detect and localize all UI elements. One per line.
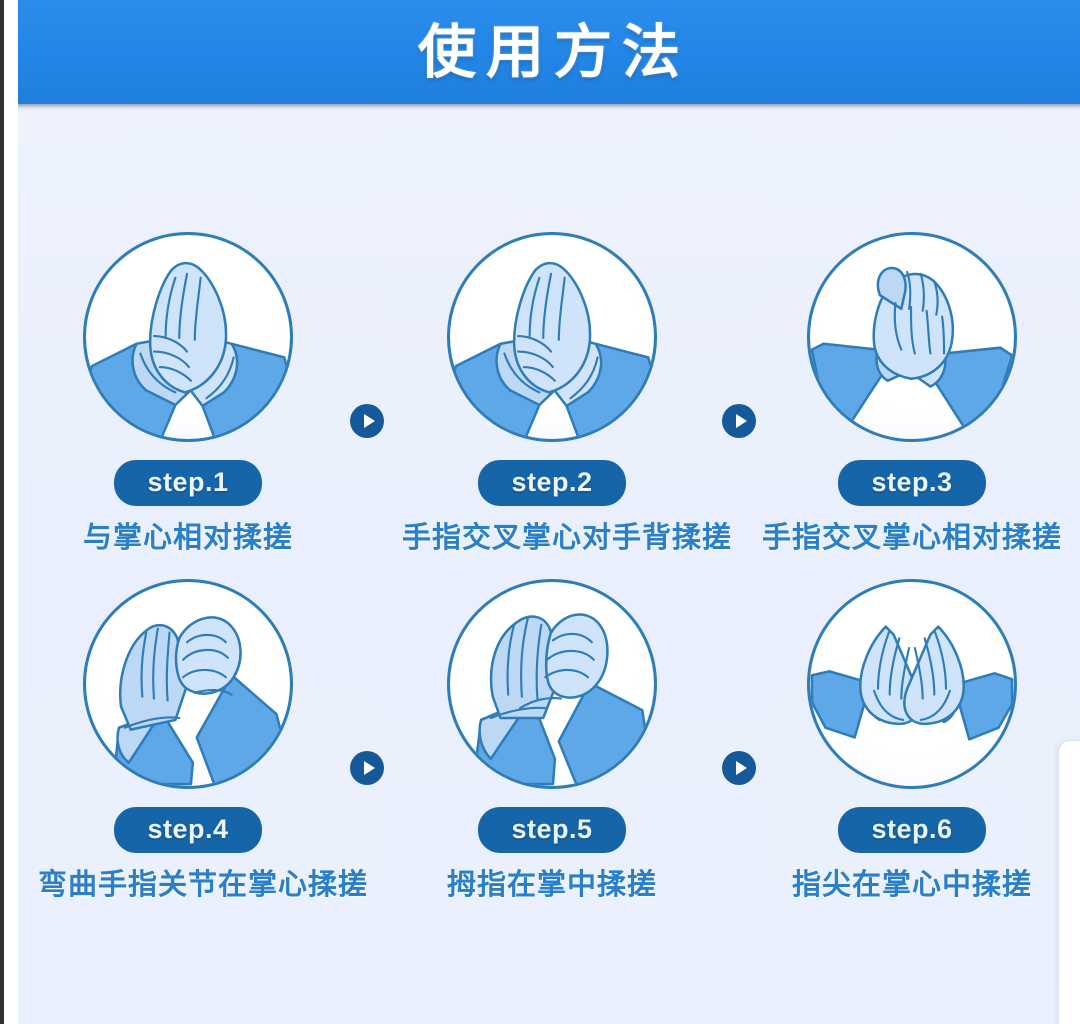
step-3-illustration <box>807 232 1017 442</box>
step-card-2: step.2 手指交叉掌心对手背揉搓 <box>402 232 702 554</box>
overlay-side-panel <box>1058 740 1080 1024</box>
step-card-1: step.1 与掌心相对揉搓 <box>38 232 338 554</box>
play-triangle-icon <box>736 761 747 775</box>
steps-grid: step.1 与掌心相对揉搓 <box>18 104 1080 1024</box>
step-card-3: step.3 手指交叉掌心相对揉搓 <box>762 232 1062 554</box>
step-2-badge: step.2 <box>478 460 626 506</box>
step-5-illustration <box>447 579 657 789</box>
step-1-caption: 与掌心相对揉搓 <box>38 520 338 554</box>
step-1-illustration <box>83 232 293 442</box>
play-triangle-icon <box>736 414 747 428</box>
knuckles-in-palm-icon <box>86 582 290 786</box>
step-6-caption: 指尖在掌心中揉搓 <box>762 867 1062 901</box>
play-triangle-icon <box>364 414 375 428</box>
step-4-illustration <box>83 579 293 789</box>
step-1-badge: step.1 <box>114 460 262 506</box>
step-2-caption: 手指交叉掌心对手背揉搓 <box>402 520 702 554</box>
screen-left-edge <box>0 0 4 1024</box>
handwash-instructions-page: 使用方法 <box>0 0 1080 1024</box>
play-triangle-icon <box>364 761 375 775</box>
thumb-rotational-rub-icon <box>450 582 654 786</box>
step-5-caption: 拇指在掌中揉搓 <box>402 867 702 901</box>
fingertips-in-palm-icon <box>810 582 1014 786</box>
palm-over-back-of-hand-icon <box>450 235 654 439</box>
steps-content-area: step.1 与掌心相对揉搓 <box>18 104 1080 1024</box>
step-5-badge: step.5 <box>478 807 626 853</box>
step-3-caption: 手指交叉掌心相对揉搓 <box>762 520 1062 554</box>
interlaced-fingers-palm-to-palm-icon <box>810 235 1014 439</box>
step-6-illustration <box>807 579 1017 789</box>
arrow-step1-to-step2 <box>350 404 384 438</box>
screen-left-margin <box>4 0 18 1024</box>
step-4-badge: step.4 <box>114 807 262 853</box>
step-card-6: step.6 指尖在掌心中揉搓 <box>762 579 1062 901</box>
page-header-banner: 使用方法 <box>18 0 1080 104</box>
step-6-badge: step.6 <box>838 807 986 853</box>
step-card-4: step.4 弯曲手指关节在掌心揉搓 <box>38 579 338 901</box>
step-4-caption: 弯曲手指关节在掌心揉搓 <box>38 867 338 901</box>
arrow-step2-to-step3 <box>722 404 756 438</box>
step-card-5: step.5 拇指在掌中揉搓 <box>402 579 702 901</box>
arrow-step4-to-step5 <box>350 751 384 785</box>
step-2-illustration <box>447 232 657 442</box>
arrow-step5-to-step6 <box>722 751 756 785</box>
palm-to-palm-rub-icon <box>86 235 290 439</box>
page-title: 使用方法 <box>18 12 1080 92</box>
step-3-badge: step.3 <box>838 460 986 506</box>
